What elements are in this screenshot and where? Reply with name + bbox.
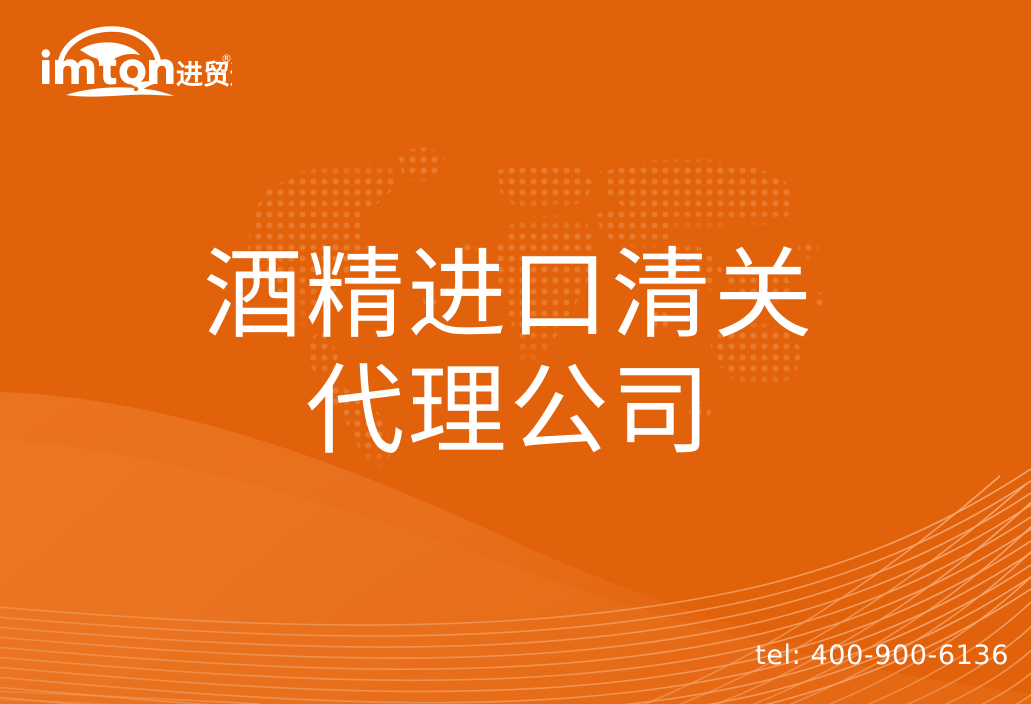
swoosh-icon [66, 81, 174, 96]
registered-trademark-icon: ® [221, 52, 232, 65]
brand-logo[interactable]: 进贸通 ® [36, 26, 232, 100]
headline-line-1: 酒精进口清关 [0, 238, 1031, 354]
page-title: 酒精进口清关 代理公司 [0, 238, 1031, 470]
marketing-banner: 进贸通 ® 酒精进口清关 代理公司 tel: 400-900-6136 [0, 0, 1031, 704]
contact-phone[interactable]: tel: 400-900-6136 [755, 640, 1009, 671]
headline-line-2: 代理公司 [0, 354, 1031, 470]
logo-mark: 进贸通 ® [36, 26, 232, 100]
